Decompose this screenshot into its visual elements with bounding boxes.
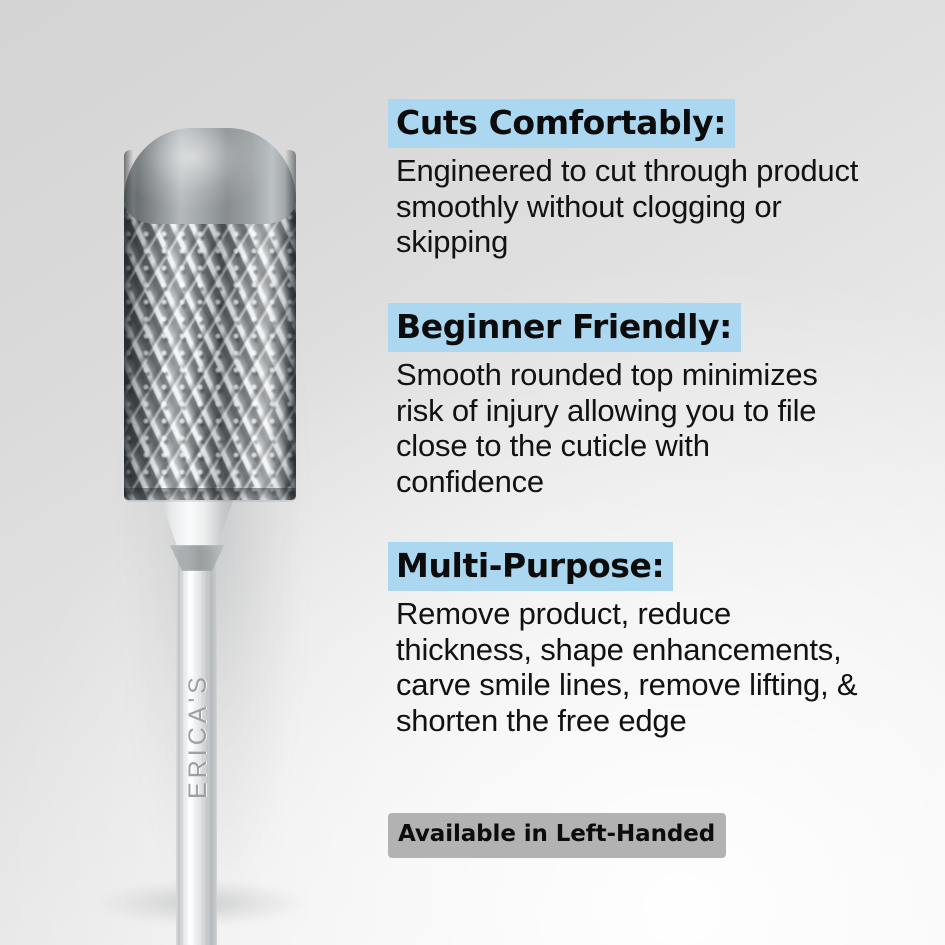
product-infographic: ERICA'S Cuts Comfortably: Engineered to …: [0, 0, 945, 945]
barrel-base-shadow: [124, 488, 296, 502]
feature-heading-beginner-friendly: Beginner Friendly:: [388, 303, 741, 352]
feature-heading-multi-purpose: Multi-Purpose:: [388, 542, 673, 591]
feature-heading-cuts-comfortably: Cuts Comfortably:: [388, 99, 735, 148]
feature-body-cuts-comfortably: Engineered to cut through product smooth…: [388, 153, 866, 261]
barrel-right-edge-shadow: [285, 150, 296, 500]
feature-block-cuts-comfortably: Cuts Comfortably: Engineered to cut thro…: [388, 99, 933, 260]
feature-body-multi-purpose: Remove product, reduce thickness, shape …: [388, 596, 866, 740]
barrel-left-edge-shadow: [124, 150, 133, 500]
feature-list: Cuts Comfortably: Engineered to cut thro…: [388, 0, 933, 945]
feature-block-multi-purpose: Multi-Purpose: Remove product, reduce th…: [388, 542, 933, 739]
product-image: ERICA'S: [0, 0, 380, 945]
feature-body-beginner-friendly: Smooth rounded top minimizes risk of inj…: [388, 357, 866, 501]
shank-grain-texture: [176, 520, 217, 945]
feature-block-beginner-friendly: Beginner Friendly: Smooth rounded top mi…: [388, 303, 933, 500]
availability-badge: Available in Left-Handed: [388, 813, 726, 858]
shank-highlight: [186, 520, 195, 945]
